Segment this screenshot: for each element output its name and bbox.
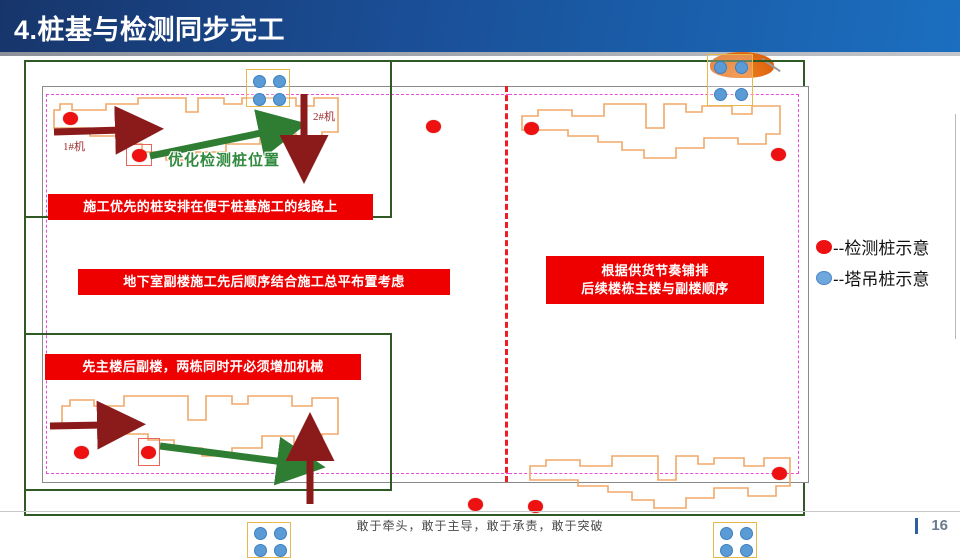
test-pile-marker (772, 467, 787, 480)
tower-pile-marker (253, 75, 266, 88)
blue-dot-icon (816, 271, 832, 285)
tower-pile-marker (274, 544, 287, 557)
tower-pile-marker (714, 88, 727, 101)
machine-2-label: 2#机 (313, 108, 335, 124)
callout-construction-priority: 施工优先的桩安排在便于桩基施工的线路上 (48, 194, 373, 220)
slide-canvas: 1#机 2#机 优化检测桩位置 (0, 56, 960, 540)
footer-slogan: 敢于牵头，敢于主导，敢于承责，敢于突破 (0, 517, 960, 534)
tower-pile-marker (273, 75, 286, 88)
tower-pile-marker (254, 544, 267, 557)
page-title: 4.桩基与检测同步完工 (14, 8, 285, 47)
machine-1-label: 1#机 (63, 138, 85, 154)
tower-pile-marker (735, 88, 748, 101)
optimize-pile-arrow-bottom (158, 440, 308, 474)
test-pile-marker (524, 122, 539, 135)
building-outline-top-right (516, 100, 806, 200)
test-pile-marker (132, 149, 147, 162)
test-pile-marker (468, 498, 483, 511)
tower-pile-marker (740, 544, 753, 557)
tower-pile-marker (720, 544, 733, 557)
callout-main-then-annex: 先主楼后副楼，两栋同时开必须增加机械 (45, 354, 361, 380)
legend-divider (955, 114, 956, 339)
page-number-bar (915, 518, 918, 534)
test-pile-marker (141, 446, 156, 459)
page-number: 16 (931, 517, 948, 534)
callout-supply-rhythm: 根据供货节奏铺排 后续楼栋主楼与副楼顺序 (546, 256, 764, 304)
machine-2-direction-arrow (290, 92, 320, 158)
phase-divider-line (505, 86, 508, 482)
legend-label-tower-pile: --塔吊桩示意 (833, 265, 929, 290)
tower-pile-marker (273, 93, 286, 106)
callout-supply-rhythm-line2: 后续楼栋主楼与副楼顺序 (581, 280, 728, 298)
legend-item-tower-pile: --塔吊桩示意 (816, 262, 956, 293)
red-dot-icon (816, 240, 832, 254)
footer-divider (0, 511, 960, 512)
optimize-pile-note: 优化检测桩位置 (168, 149, 280, 170)
test-pile-marker (771, 148, 786, 161)
tower-pile-marker (735, 61, 748, 74)
callout-basement-sequence: 地下室副楼施工先后顺序结合施工总平布置考虑 (78, 269, 450, 295)
tower-pile-marker (253, 93, 266, 106)
machine-up-arrow-bottom (296, 440, 326, 510)
slide-title-bar: 4.桩基与检测同步完工 (0, 0, 960, 52)
legend-label-test-pile: --检测桩示意 (833, 234, 929, 259)
legend-item-test-pile: --检测桩示意 (816, 231, 956, 262)
legend: --检测桩示意 --塔吊桩示意 (816, 231, 956, 293)
callout-supply-rhythm-line1: 根据供货节奏铺排 (601, 262, 708, 280)
test-pile-marker (74, 446, 89, 459)
machine-direction-arrow-bottom (48, 414, 120, 438)
tower-pile-marker (714, 61, 727, 74)
test-pile-marker (426, 120, 441, 133)
